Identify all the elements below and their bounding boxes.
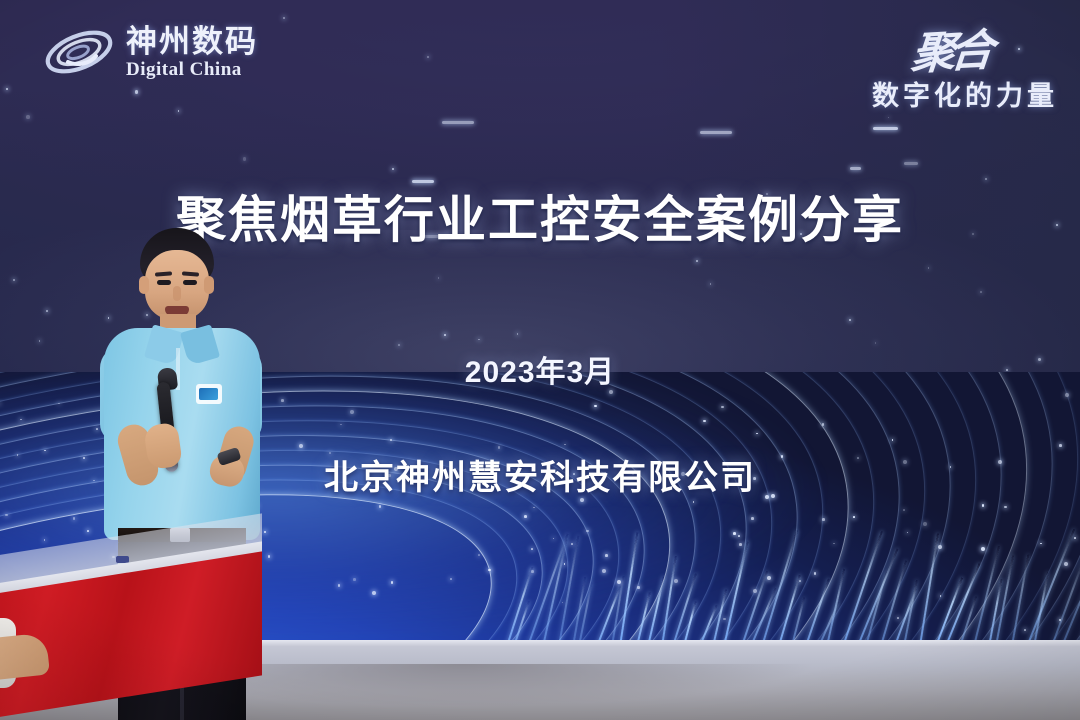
screenshot-root: 神州数码 Digital China 聚合 数字化的力量 聚焦烟草行业工控安全案…: [0, 0, 1080, 720]
presenter-ear-left: [139, 276, 149, 294]
digital-china-swoosh-icon: [42, 22, 116, 82]
event-logo: 聚合 数字化的力量: [872, 16, 1058, 113]
presenter-eye-right: [183, 280, 197, 285]
presenter-eye-left: [157, 280, 171, 285]
digital-china-logo: 神州数码 Digital China: [42, 22, 258, 82]
company-badge-icon: [199, 388, 218, 400]
event-logo-calligraphy: 聚合: [909, 14, 991, 82]
digital-china-chinese: 神州数码: [126, 26, 258, 57]
event-logo-tagline: 数字化的力量: [872, 74, 1058, 113]
presenter-ear-right: [204, 276, 214, 294]
presenter-nose: [173, 286, 181, 301]
digital-china-english: Digital China: [126, 60, 258, 79]
digital-china-logo-text: 神州数码 Digital China: [126, 26, 258, 79]
foreground-table: [0, 540, 280, 720]
